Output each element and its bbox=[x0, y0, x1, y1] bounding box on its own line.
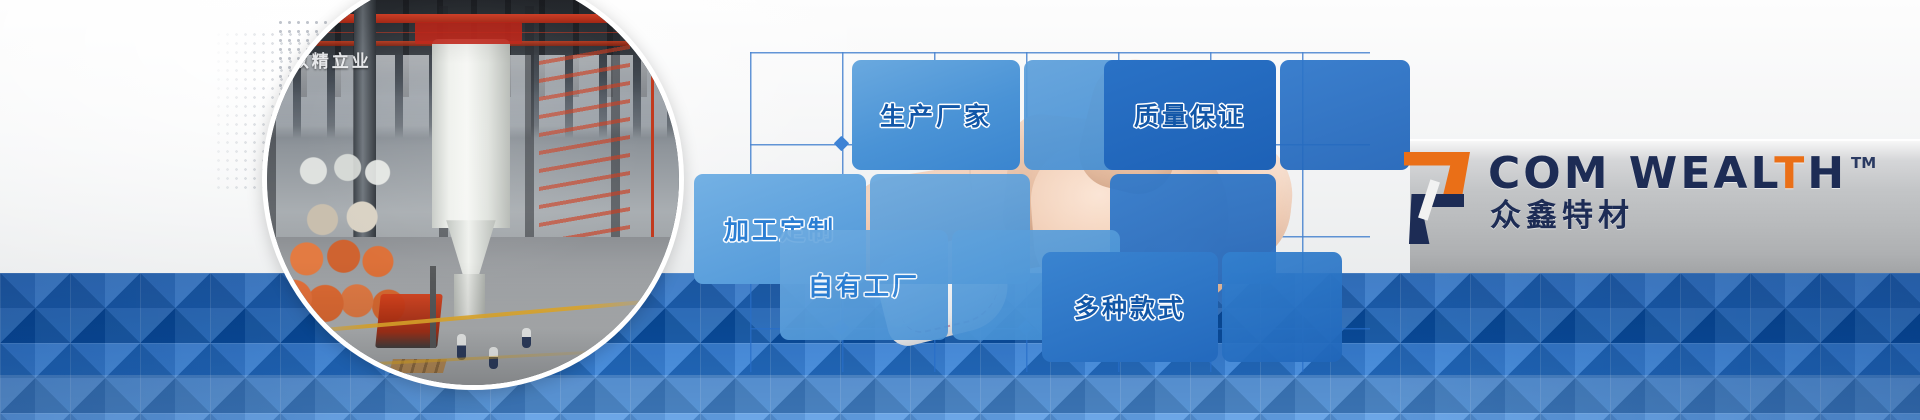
factory-photo-circle: 以精立业 bbox=[262, 0, 684, 390]
logo-text-block: COM WEALTH TM 众鑫特材 bbox=[1488, 150, 1876, 232]
factory-photo: 以精立业 bbox=[267, 0, 679, 385]
logo-english-row: COM WEALTH TM bbox=[1488, 152, 1876, 196]
feature-tile-own-factory[interactable]: 自有工厂 bbox=[780, 230, 948, 340]
trademark-symbol: TM bbox=[1851, 156, 1876, 171]
logo-en-accent-letter: T bbox=[1774, 148, 1807, 199]
logo-english-name: COM WEALTH bbox=[1488, 152, 1847, 196]
feature-label-multiple-styles: 多种款式 bbox=[1074, 289, 1186, 325]
logo-en-part2: H bbox=[1807, 148, 1847, 199]
promotional-banner: 以精立业 生产厂家 质量保证 加工定制 bbox=[0, 0, 1920, 420]
company-logo[interactable]: COM WEALTH TM 众鑫特材 bbox=[1400, 150, 1876, 242]
logo-chinese-name: 众鑫特材 bbox=[1490, 201, 1876, 232]
tile-decor-styles-b bbox=[1222, 252, 1342, 362]
feature-tile-multiple-styles[interactable]: 多种款式 bbox=[1042, 252, 1218, 362]
feature-tile-quality-guarantee[interactable]: 质量保证 bbox=[1104, 60, 1276, 170]
photo-shading-overlay bbox=[267, 0, 679, 385]
logo-plate-top-edge bbox=[1410, 139, 1920, 141]
com-wealth-z-mark-icon bbox=[1400, 150, 1474, 242]
logo-en-part1: COM WEAL bbox=[1488, 148, 1774, 199]
tile-decor-quality-b bbox=[1280, 60, 1410, 170]
feature-label-own-factory: 自有工厂 bbox=[808, 267, 920, 303]
feature-tile-production-manufacturer[interactable]: 生产厂家 bbox=[852, 60, 1020, 170]
feature-label-production-manufacturer: 生产厂家 bbox=[880, 97, 992, 133]
feature-label-quality-guarantee: 质量保证 bbox=[1134, 97, 1246, 133]
